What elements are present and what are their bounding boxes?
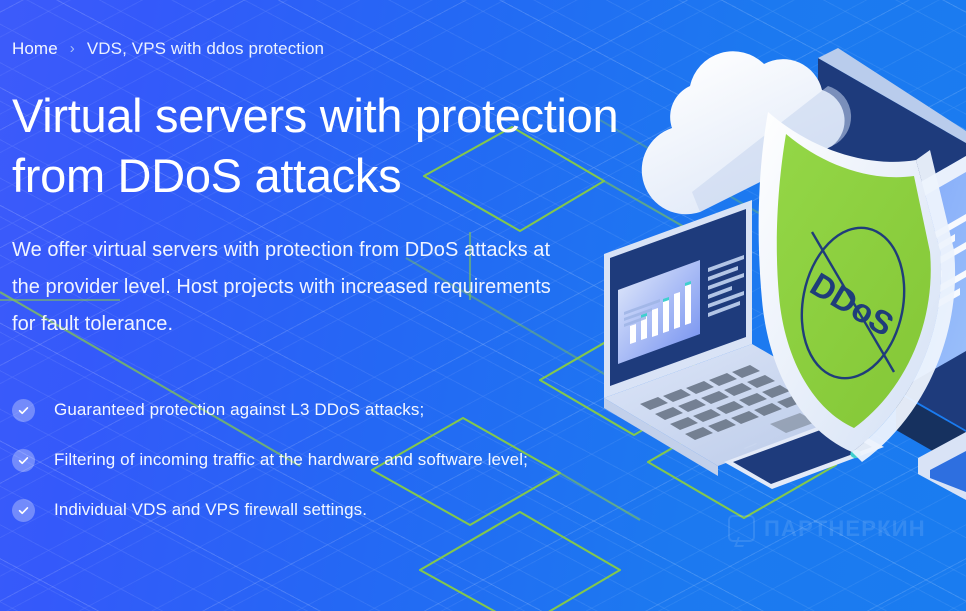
chevron-right-icon: ›: [70, 40, 75, 57]
list-item: Individual VDS and VPS firewall settings…: [12, 485, 700, 535]
breadcrumb-current: VDS, VPS with ddos protection: [87, 39, 324, 59]
speech-bubble-logo-icon: [728, 515, 755, 542]
list-item: Filtering of incoming traffic at the har…: [12, 435, 700, 485]
check-circle-icon: [12, 449, 35, 472]
page-title: Virtual servers with protection from DDo…: [12, 86, 700, 206]
secondary-laptop-graphic: [918, 432, 966, 500]
monitor-graphic: [818, 48, 966, 470]
feature-list: Guaranteed protection against L3 DDoS at…: [12, 385, 700, 535]
ddos-prohibition-sign: DDoS: [789, 219, 916, 387]
browser-window-graphic: [886, 156, 966, 397]
hero-description: We offer virtual servers with protection…: [12, 232, 572, 343]
check-circle-icon: [12, 399, 35, 422]
smartphone-graphic: [724, 420, 884, 489]
check-circle-icon: [12, 499, 35, 522]
shield-graphic: DDoS: [759, 112, 955, 462]
watermark-text: ПАРТНЕРКИН: [764, 516, 926, 542]
svg-text:DDoS: DDoS: [804, 265, 900, 343]
feature-label: Individual VDS and VPS firewall settings…: [54, 500, 367, 520]
feature-label: Filtering of incoming traffic at the har…: [54, 450, 528, 470]
breadcrumb-home-link[interactable]: Home: [12, 39, 58, 59]
list-item: Guaranteed protection against L3 DDoS at…: [12, 385, 700, 435]
feature-label: Guaranteed protection against L3 DDoS at…: [54, 400, 424, 420]
hero-banner: DDoS Home › VDS, VPS with ddos protectio…: [0, 0, 966, 611]
hero-content: Home › VDS, VPS with ddos protection Vir…: [0, 0, 700, 535]
watermark: ПАРТНЕРКИН: [728, 515, 926, 542]
breadcrumb: Home › VDS, VPS with ddos protection: [12, 36, 700, 62]
